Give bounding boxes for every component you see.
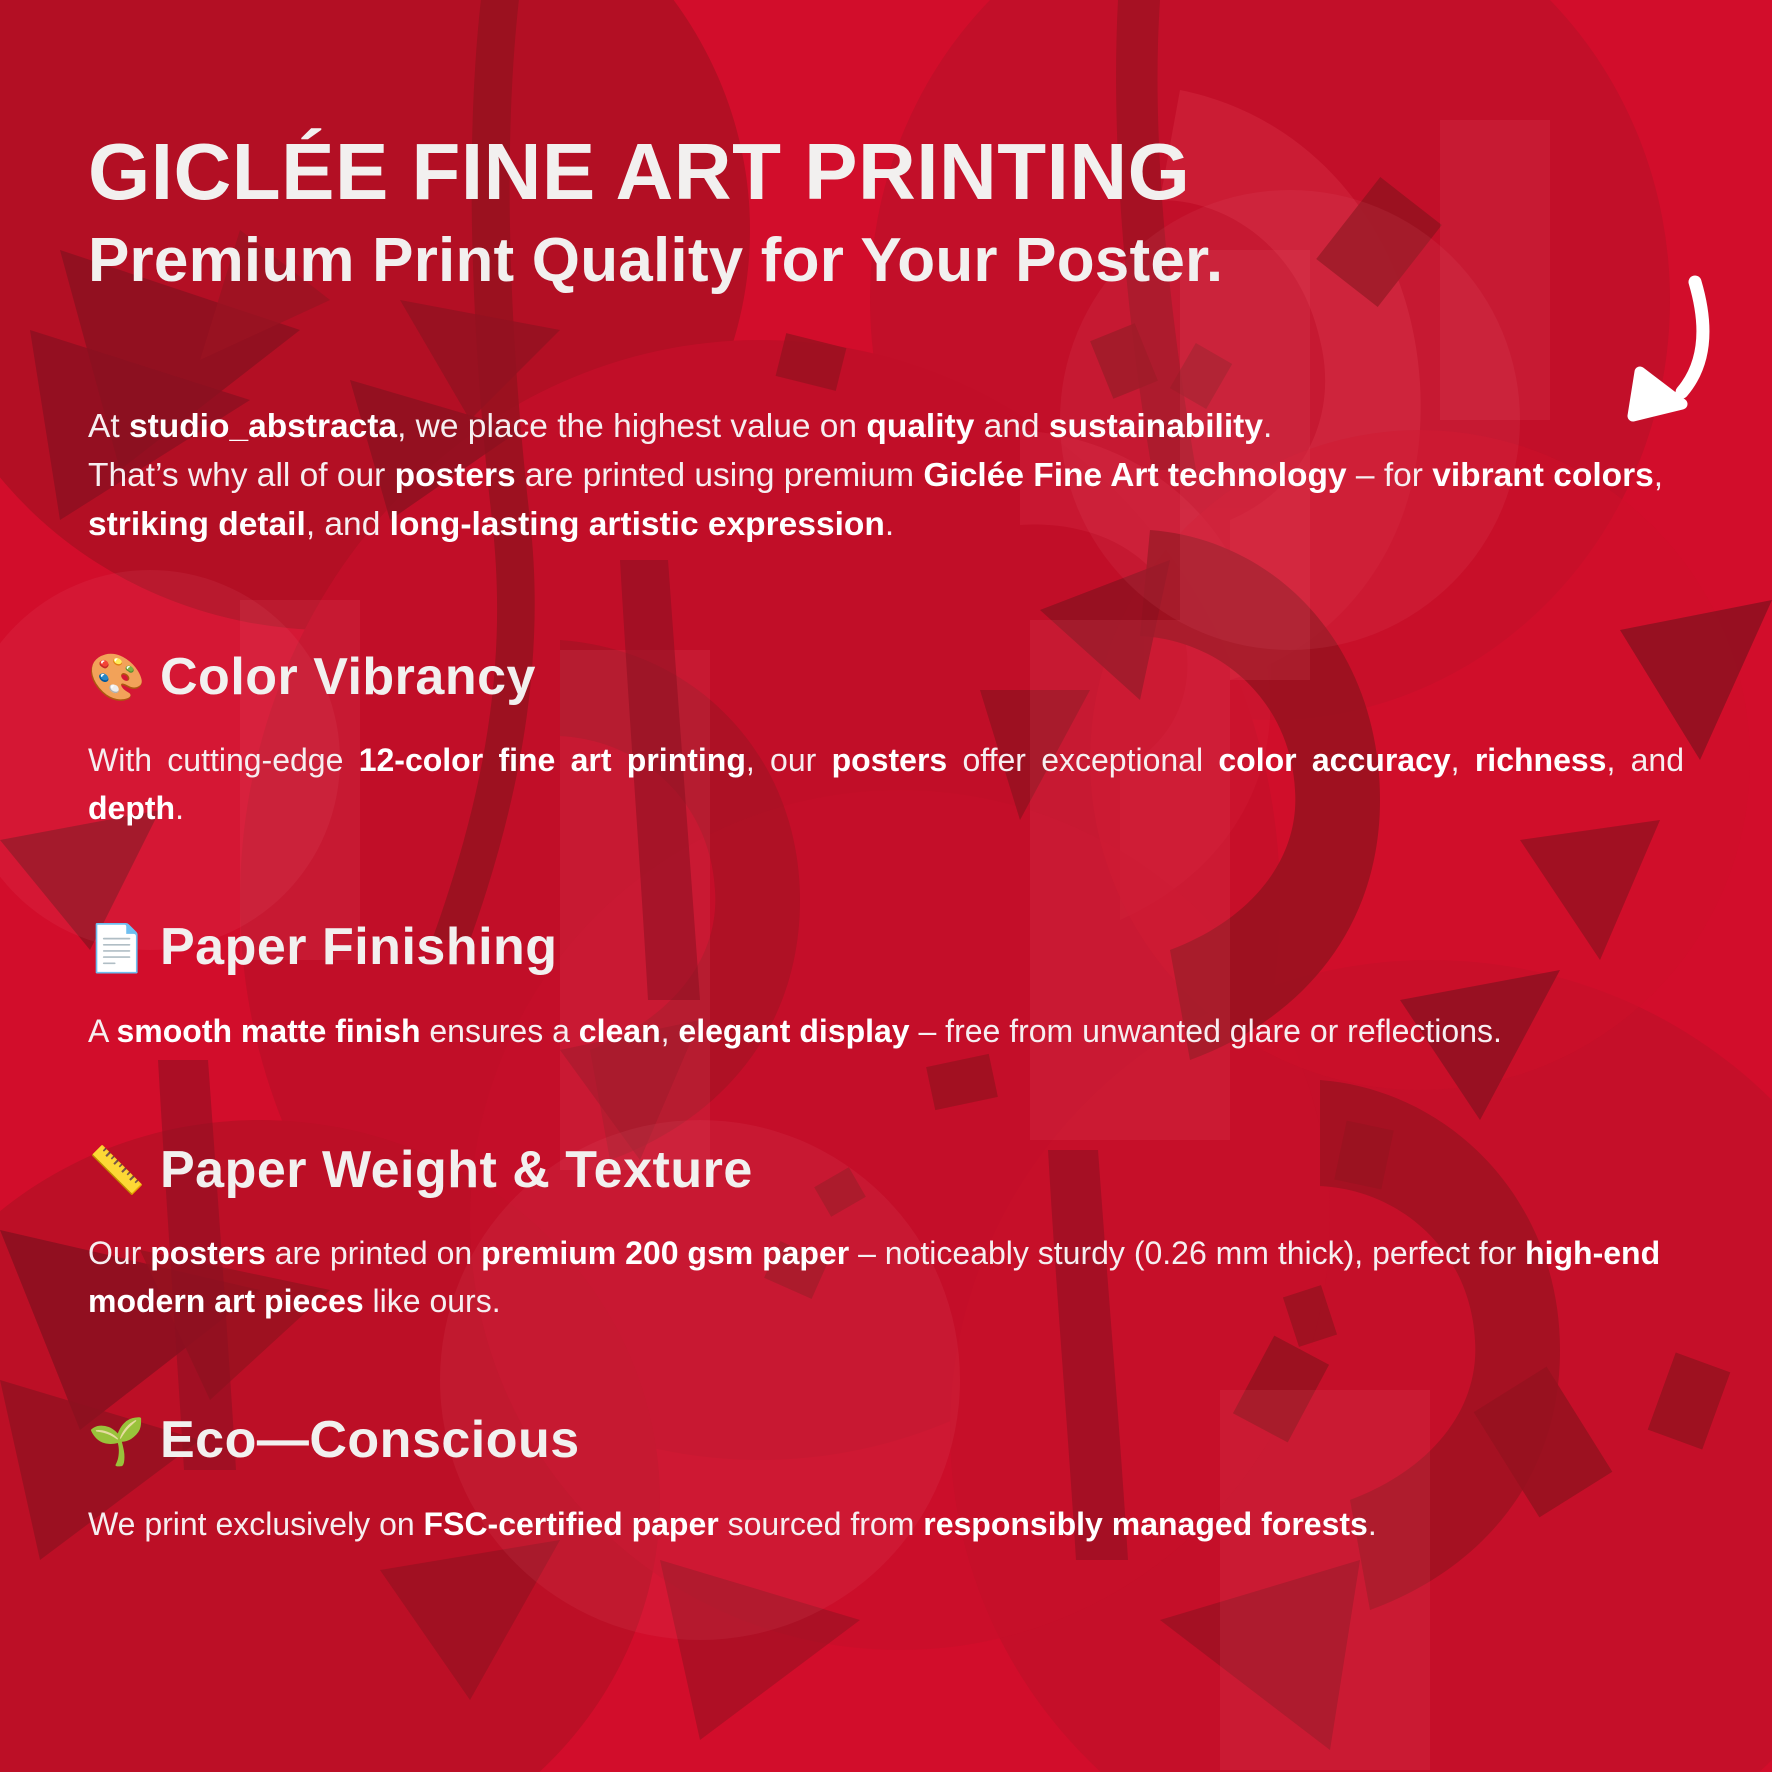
section-eco-conscious: 🌱 Eco—Conscious We print exclusively on … — [88, 1413, 1684, 1548]
body-mid-1: are printed on — [266, 1235, 481, 1271]
section-color-vibrancy: 🎨 Color Vibrancy With cutting-edge 12-co… — [88, 650, 1684, 833]
section-body: Our posters are printed on premium 200 g… — [88, 1229, 1684, 1325]
intro-quality: quality — [866, 408, 974, 445]
body-bold-4: richness — [1475, 742, 1607, 778]
intro-long-lasting: long-lasting artistic expression — [390, 506, 885, 543]
body-pre: We print exclusively on — [88, 1506, 424, 1542]
body-mid-3: , — [1451, 742, 1475, 778]
intro-line1-pre: At — [88, 408, 129, 445]
body-pre: A — [88, 1013, 116, 1049]
body-pre: With cutting-edge — [88, 742, 359, 778]
section-body: With cutting-edge 12-color fine art prin… — [88, 736, 1684, 832]
intro-line2-end: . — [885, 506, 894, 543]
section-body: We print exclusively on FSC-certified pa… — [88, 1500, 1684, 1548]
body-mid-1: , our — [746, 742, 832, 778]
intro-line2-mid2: – for — [1347, 457, 1433, 494]
body-mid-2: . — [1368, 1506, 1377, 1542]
body-bold-2: responsibly managed forests — [923, 1506, 1368, 1542]
body-mid-3: – free from unwanted glare or reflection… — [910, 1013, 1502, 1049]
intro-line2-mid3: , — [1654, 457, 1663, 494]
poster-canvas: GICLÉE FINE ART PRINTING Premium Print Q… — [0, 0, 1772, 1772]
body-bold-1: 12-color fine art printing — [359, 742, 746, 778]
section-title: Paper Weight & Texture — [160, 1143, 753, 1198]
body-bold-2: clean — [579, 1013, 661, 1049]
body-bold-3: color accuracy — [1218, 742, 1450, 778]
page-title: GICLÉE FINE ART PRINTING — [88, 132, 1684, 212]
body-mid-3: like ours. — [364, 1283, 501, 1319]
body-mid-4: , and — [1606, 742, 1684, 778]
body-pre: Our — [88, 1235, 150, 1271]
intro-line2-pre: That’s why all of our — [88, 457, 395, 494]
body-bold-1: FSC-certified paper — [424, 1506, 719, 1542]
body-bold-1: posters — [150, 1235, 266, 1271]
body-bold-2: premium 200 gsm paper — [481, 1235, 849, 1271]
header-block: GICLÉE FINE ART PRINTING Premium Print Q… — [88, 0, 1684, 292]
body-mid-1: sourced from — [719, 1506, 924, 1542]
curved-arrow-icon — [1596, 268, 1766, 443]
intro-technology: Giclée Fine Art technology — [923, 457, 1346, 494]
intro-vibrant-colors: vibrant colors — [1432, 457, 1654, 494]
intro-brand: studio_abstracta — [129, 408, 397, 445]
body-bold-1: smooth matte finish — [116, 1013, 420, 1049]
intro-line1-mid2: and — [974, 408, 1049, 445]
intro-line1-end: . — [1263, 408, 1272, 445]
section-heading: 📏 Paper Weight & Texture — [88, 1143, 1684, 1198]
body-mid-1: ensures a — [420, 1013, 578, 1049]
body-mid-2: offer exceptional — [947, 742, 1218, 778]
intro-sustainability: sustainability — [1049, 408, 1263, 445]
intro-line1-mid: , we place the highest value on — [397, 408, 866, 445]
intro-paragraph: At studio_abstracta, we place the highes… — [88, 402, 1684, 550]
section-title: Eco—Conscious — [160, 1413, 580, 1468]
body-mid-2: – noticeably sturdy (0.26 mm thick), per… — [849, 1235, 1525, 1271]
seedling-icon: 🌱 — [88, 1418, 140, 1464]
page-subtitle: Premium Print Quality for Your Poster. — [88, 230, 1684, 292]
section-heading: 🎨 Color Vibrancy — [88, 650, 1684, 705]
body-bold-3: elegant display — [678, 1013, 909, 1049]
intro-posters: posters — [395, 457, 516, 494]
section-heading: 📄 Paper Finishing — [88, 920, 1684, 975]
straight-ruler-icon: 📏 — [88, 1147, 140, 1193]
section-body: A smooth matte finish ensures a clean, e… — [88, 1007, 1684, 1055]
intro-line2-mid: are printed using premium — [516, 457, 924, 494]
body-bold-5: depth — [88, 790, 175, 826]
body-bold-2: posters — [832, 742, 948, 778]
intro-line2-mid4: , and — [306, 506, 390, 543]
section-title: Paper Finishing — [160, 920, 558, 975]
intro-striking-detail: striking detail — [88, 506, 306, 543]
section-paper-finishing: 📄 Paper Finishing A smooth matte finish … — [88, 920, 1684, 1055]
poster-content: GICLÉE FINE ART PRINTING Premium Print Q… — [0, 0, 1772, 1548]
section-paper-weight-texture: 📏 Paper Weight & Texture Our posters are… — [88, 1143, 1684, 1326]
section-heading: 🌱 Eco—Conscious — [88, 1413, 1684, 1468]
section-title: Color Vibrancy — [160, 650, 536, 705]
body-end: . — [175, 790, 184, 826]
page-document-icon: 📄 — [88, 925, 140, 971]
body-mid-2: , — [661, 1013, 679, 1049]
artist-palette-icon: 🎨 — [88, 654, 140, 700]
